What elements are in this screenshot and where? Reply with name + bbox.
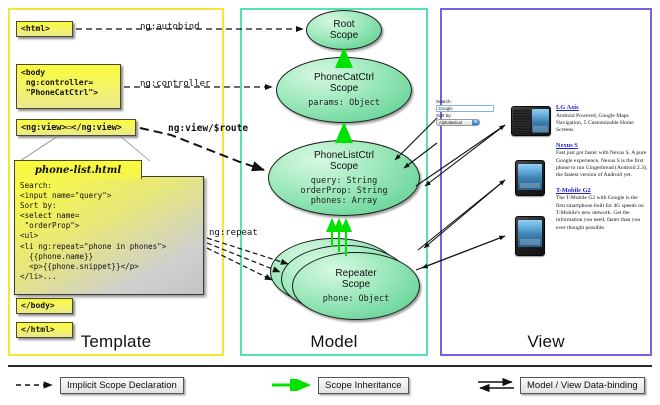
view-search-form: Search: Google Sort by: Alphabetical ⇅ <box>436 99 498 126</box>
sort-select-value: Alphabetical <box>439 120 462 125</box>
sort-label: Sort by: <box>436 113 498 119</box>
search-label: Search: <box>436 99 498 105</box>
diagram-canvas: Template Model View <html> <body ng:cont… <box>0 0 660 405</box>
scope-phonelistctrl-members: query: String orderProp: String phones: … <box>301 176 388 206</box>
phone-link-t-mobile-g2[interactable]: T-Mobile G2 <box>556 187 648 194</box>
list-item: LG Axis Android Powered, Google Maps Nav… <box>556 104 648 135</box>
legend-item-implicit: Implicit Scope Declaration <box>14 377 184 393</box>
code-box-body-open: <body ng:controller= "PhoneCatCtrl"> <box>16 64 121 109</box>
legend-divider <box>8 365 652 367</box>
scope-repeater: Repeater Scope phone: Object <box>292 252 420 320</box>
scope-phonelistctrl: PhoneListCtrl Scope query: String orderP… <box>268 140 420 216</box>
phone-snippet: The T-Mobile G2 with Google is the first… <box>556 195 648 232</box>
legend-icon-dashed-arrow <box>14 379 60 391</box>
code-box-html-open: <html> <box>16 21 73 37</box>
phone-link-lg-axis[interactable]: LG Axis <box>556 104 648 111</box>
code-box-body-close: </body> <box>16 298 73 314</box>
scope-root: Root Scope <box>306 10 382 50</box>
legend-item-databinding: Model / View Data-binding <box>476 377 645 393</box>
code-box-ng-view: <ng:view>▭</ng:view> <box>16 119 136 136</box>
phone-link-nexus-s[interactable]: Nexus S <box>556 142 648 149</box>
search-input[interactable]: Google <box>436 105 494 112</box>
chevron-updown-icon: ⇅ <box>472 120 479 126</box>
template-file-code: Search: <input name="query"> Sort by: <s… <box>14 176 204 295</box>
edge-label-repeat: ng:repeat <box>209 228 258 238</box>
code-box-html-close: </html> <box>16 322 73 338</box>
list-item: T-Mobile G2 The T-Mobile G2 with Google … <box>556 187 648 232</box>
template-file-phone-list: phone-list.html Search: <input name="que… <box>14 160 204 295</box>
scope-phonecatctrl-title: PhoneCatCtrl Scope <box>314 72 374 94</box>
legend-item-inheritance: Scope Inheritance <box>270 377 409 393</box>
scope-root-title: Root Scope <box>330 19 358 41</box>
phone-snippet: Android Powered, Google Maps Navigation,… <box>556 113 648 135</box>
sort-select[interactable]: Alphabetical ⇅ <box>436 119 480 127</box>
edge-label-route: ng:view/$route <box>168 123 248 134</box>
scope-phonecatctrl: PhoneCatCtrl Scope params: Object <box>276 57 412 123</box>
phone-snippet: Fast just got faster with Nexus S. A pur… <box>556 150 648 180</box>
template-file-name: phone-list.html <box>14 160 142 179</box>
legend-label-implicit: Implicit Scope Declaration <box>60 377 184 394</box>
list-item: Nexus S Fast just got faster with Nexus … <box>556 142 648 180</box>
column-title-view: View <box>442 332 650 352</box>
legend-label-databinding: Model / View Data-binding <box>520 377 645 394</box>
scope-repeater-members: phone: Object <box>323 294 390 304</box>
column-title-model: Model <box>242 332 426 352</box>
legend-label-inheritance: Scope Inheritance <box>318 377 409 394</box>
scope-repeater-title: Repeater Scope <box>335 268 376 290</box>
legend: Implicit Scope Declaration Scope Inherit… <box>0 365 660 405</box>
phone-image-nexus-s <box>513 160 549 196</box>
legend-icon-double-arrow <box>476 377 520 393</box>
legend-icon-green-arrow <box>270 379 318 391</box>
phone-image-lg-axis <box>511 104 551 138</box>
scope-phonecatctrl-members: params: Object <box>308 98 380 108</box>
edge-label-autobind: ng:autobind <box>140 22 200 32</box>
phone-image-t-mobile-g2 <box>513 216 549 256</box>
view-phone-list: LG Axis Android Powered, Google Maps Nav… <box>556 104 648 239</box>
scope-phonelistctrl-title: PhoneListCtrl Scope <box>314 150 374 172</box>
edge-label-controller: ng:controller <box>140 79 210 89</box>
